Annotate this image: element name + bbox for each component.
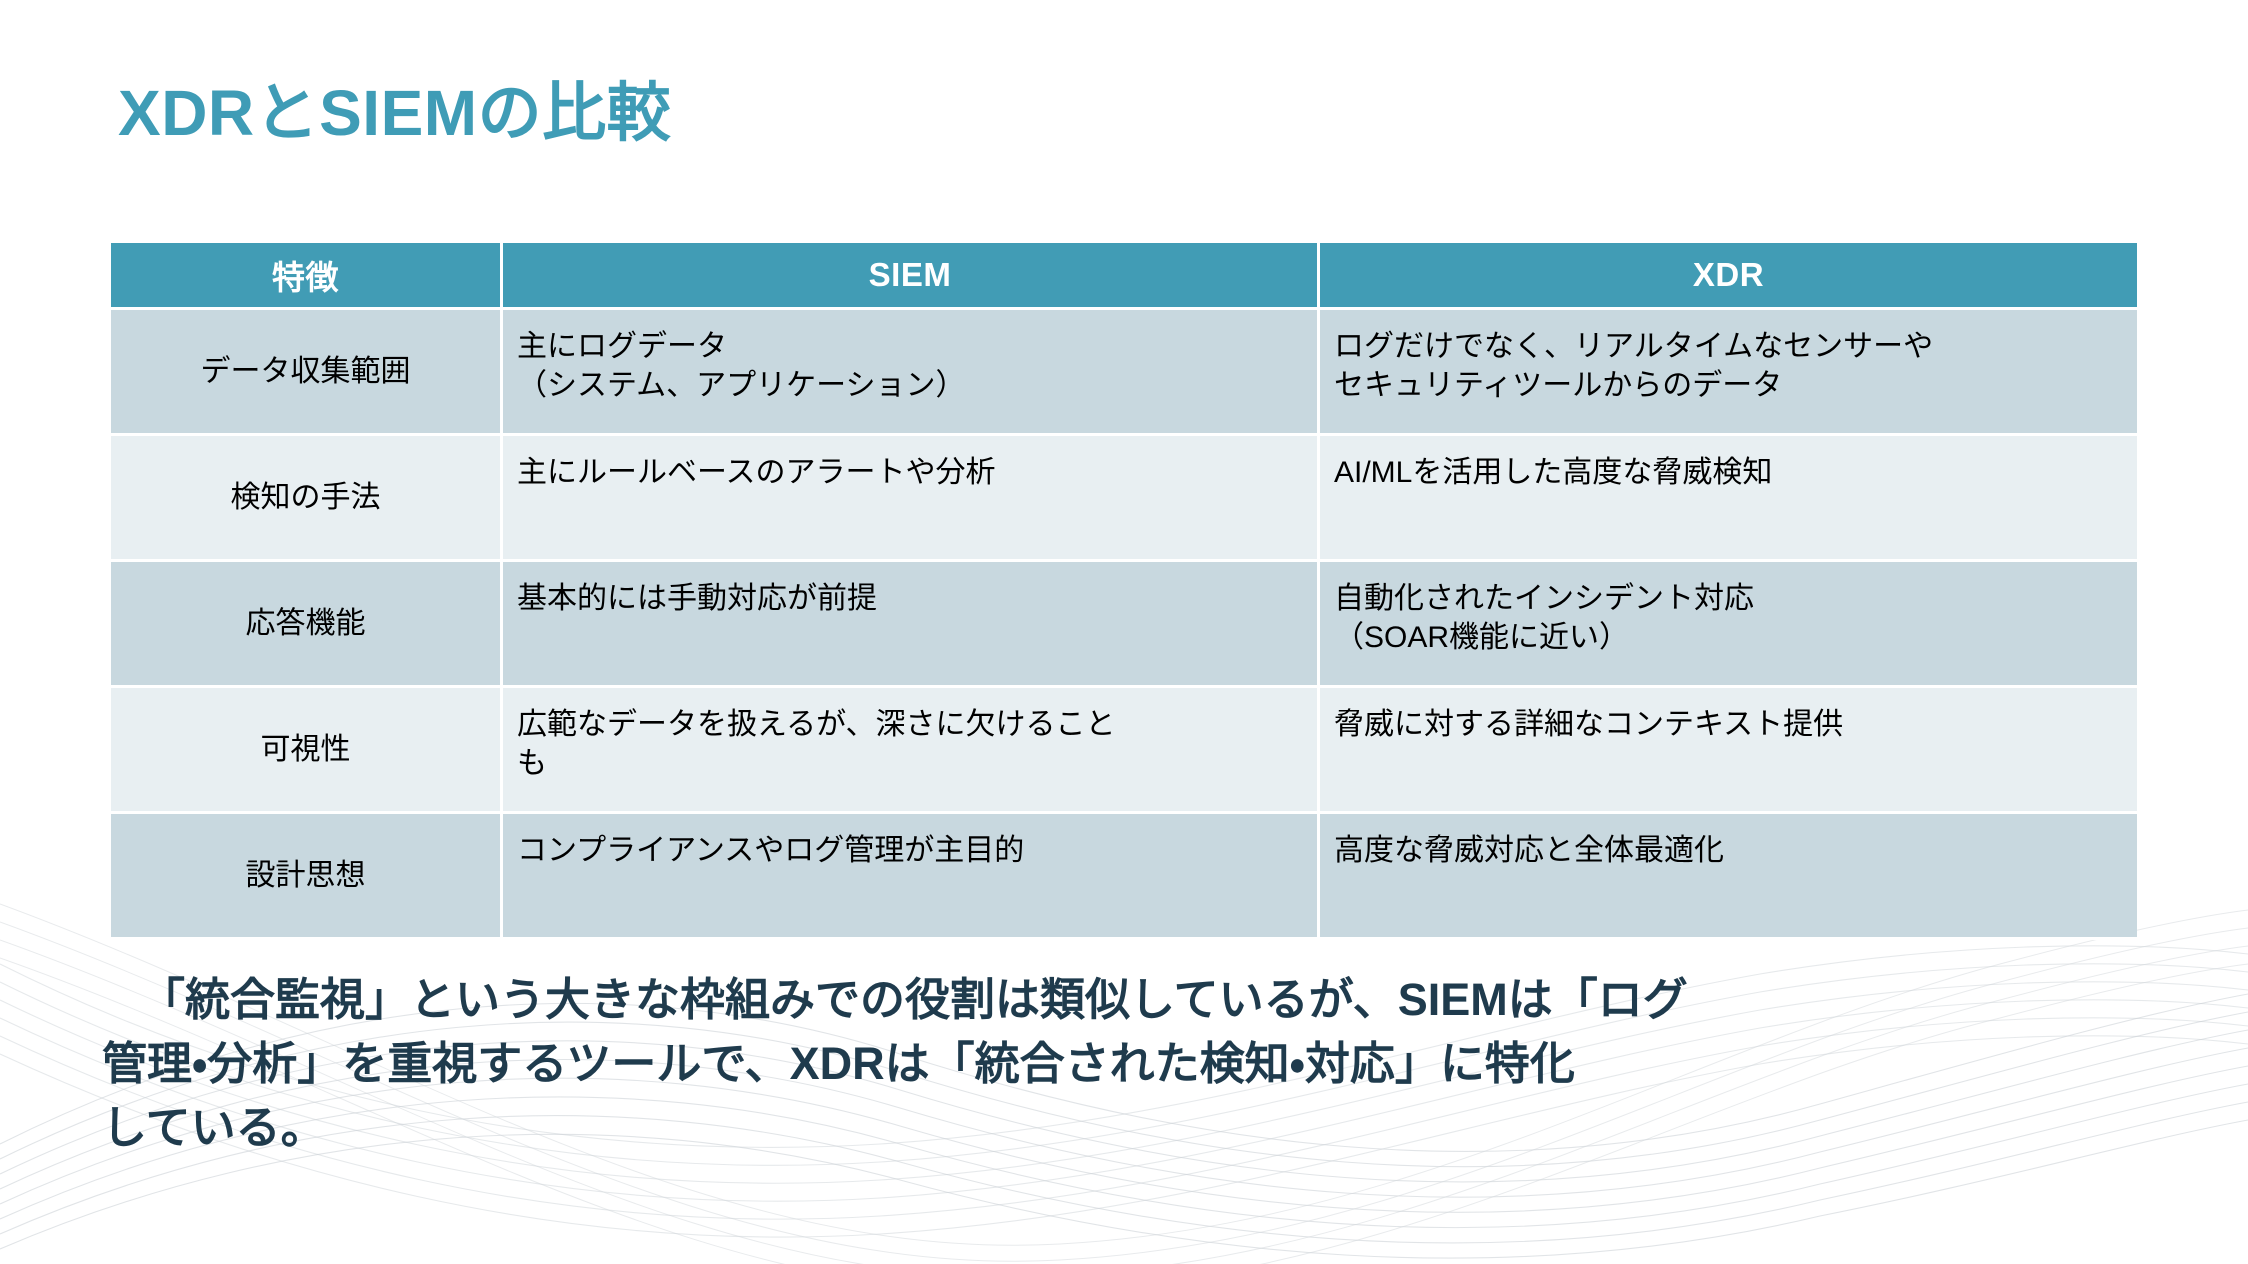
comparison-table: 特徴 SIEM XDR データ収集範囲 主にログデータ （システム、アプリケーシ… bbox=[111, 243, 2137, 940]
cell-text-line: も bbox=[517, 744, 1303, 783]
cell-text-line: 主にルールベースのアラートや分析 bbox=[517, 453, 1303, 492]
column-header-feature: 特徴 bbox=[111, 243, 503, 310]
cell-siem: 広範なデータを扱えるが、深さに欠けること も bbox=[503, 688, 1320, 814]
cell-text-line: 基本的には手動対応が前提 bbox=[517, 579, 1303, 618]
summary-line: している。 bbox=[102, 1096, 2150, 1160]
cell-xdr: ログだけでなく、リアルタイムなセンサーや セキュリティツールからのデータ bbox=[1320, 310, 2137, 436]
table-row: 可視性 広範なデータを扱えるが、深さに欠けること も 脅威に対する詳細なコンテキ… bbox=[111, 688, 2137, 814]
cell-feature: データ収集範囲 bbox=[111, 310, 503, 436]
cell-xdr: AI/MLを活用した高度な脅威検知 bbox=[1320, 436, 2137, 562]
cell-feature: 設計思想 bbox=[111, 814, 503, 940]
cell-text-line: 主にログデータ bbox=[517, 327, 1303, 366]
column-header-xdr: XDR bbox=[1320, 243, 2137, 310]
slide-root: XDRとSIEMの比較 特徴 SIEM XDR データ収集範囲 主にログデータ … bbox=[0, 0, 2248, 1264]
cell-text-line: （SOAR機能に近い） bbox=[1334, 618, 2123, 657]
table-body: データ収集範囲 主にログデータ （システム、アプリケーション） ログだけでなく、… bbox=[111, 310, 2137, 940]
cell-siem: コンプライアンスやログ管理が主目的 bbox=[503, 814, 1320, 940]
cell-xdr: 脅威に対する詳細なコンテキスト提供 bbox=[1320, 688, 2137, 814]
cell-siem: 主にログデータ （システム、アプリケーション） bbox=[503, 310, 1320, 436]
cell-text-line: 自動化されたインシデント対応 bbox=[1334, 579, 2123, 618]
cell-xdr: 高度な脅威対応と全体最適化 bbox=[1320, 814, 2137, 940]
cell-siem: 主にルールベースのアラートや分析 bbox=[503, 436, 1320, 562]
cell-text-line: AI/MLを活用した高度な脅威検知 bbox=[1334, 453, 2123, 492]
cell-text-line: 広範なデータを扱えるが、深さに欠けること bbox=[517, 705, 1303, 744]
cell-text-line: コンプライアンスやログ管理が主目的 bbox=[517, 831, 1303, 870]
cell-xdr: 自動化されたインシデント対応 （SOAR機能に近い） bbox=[1320, 562, 2137, 688]
table-row: データ収集範囲 主にログデータ （システム、アプリケーション） ログだけでなく、… bbox=[111, 310, 2137, 436]
table-row: 応答機能 基本的には手動対応が前提 自動化されたインシデント対応 （SOAR機能… bbox=[111, 562, 2137, 688]
cell-siem: 基本的には手動対応が前提 bbox=[503, 562, 1320, 688]
cell-feature: 可視性 bbox=[111, 688, 503, 814]
page-title: XDRとSIEMの比較 bbox=[118, 78, 671, 148]
cell-text-line: ログだけでなく、リアルタイムなセンサーや bbox=[1334, 327, 2123, 366]
cell-text-line: セキュリティツールからのデータ bbox=[1334, 366, 2123, 405]
table-header: 特徴 SIEM XDR bbox=[111, 243, 2137, 310]
table-header-row: 特徴 SIEM XDR bbox=[111, 243, 2137, 310]
summary-line: 管理・分析」を重視するツールで、XDRは「統合された検知・対応」に特化 bbox=[102, 1032, 2150, 1096]
cell-feature: 応答機能 bbox=[111, 562, 503, 688]
table-row: 検知の手法 主にルールベースのアラートや分析 AI/MLを活用した高度な脅威検知 bbox=[111, 436, 2137, 562]
table-row: 設計思想 コンプライアンスやログ管理が主目的 高度な脅威対応と全体最適化 bbox=[111, 814, 2137, 940]
summary-line: 「統合監視」という大きな枠組みでの役割は類似しているが、SIEMは「ログ bbox=[140, 968, 2150, 1032]
summary-text: 「統合監視」という大きな枠組みでの役割は類似しているが、SIEMは「ログ 管理・… bbox=[140, 968, 2150, 1160]
column-header-siem: SIEM bbox=[503, 243, 1320, 310]
cell-text-line: （システム、アプリケーション） bbox=[517, 366, 1303, 405]
cell-text-line: 高度な脅威対応と全体最適化 bbox=[1334, 831, 2123, 870]
cell-feature: 検知の手法 bbox=[111, 436, 503, 562]
cell-text-line: 脅威に対する詳細なコンテキスト提供 bbox=[1334, 705, 2123, 744]
